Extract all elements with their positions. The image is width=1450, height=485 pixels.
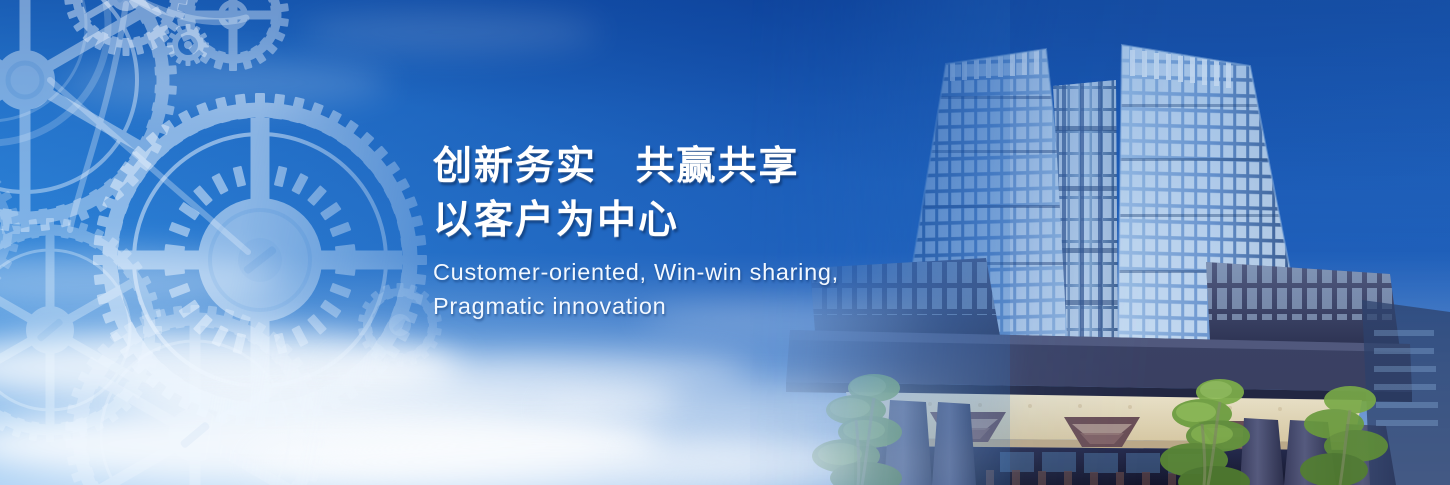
hero-copy-block: 创新务实 共赢共享 以客户为中心 Customer-oriented, Win-… [433,140,1073,323]
headline-cn-line-1: 创新务实 共赢共享 [433,140,1073,194]
corporate-hero-banner: 创新务实 共赢共享 以客户为中心 Customer-oriented, Win-… [0,0,1450,485]
subtitle-en-line-1: Customer-oriented, Win-win sharing, [433,255,1073,289]
subtitle-en-line-2: Pragmatic innovation [433,289,1073,323]
headline-cn-line-2: 以客户为中心 [433,194,1073,248]
